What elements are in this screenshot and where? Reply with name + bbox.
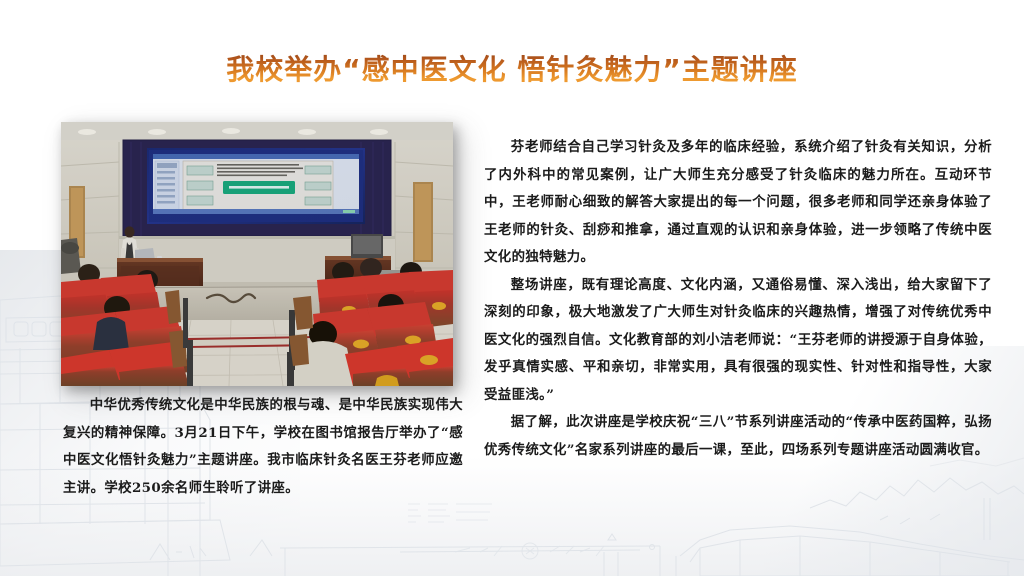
right-paragraph-3: 据了解，此次讲座是学校庆祝“三八”节系列讲座活动的“传承中医药国粹，弘扬优秀传统… — [484, 409, 992, 464]
title-block: 我校举办“感中医文化 悟针灸魅力”主题讲座 — [0, 50, 1024, 90]
right-paragraph-1: 芬老师结合自己学习针灸及多年的临床经验，系统介绍了针灸有关知识，分析了内外科中的… — [484, 134, 992, 272]
page-title: 我校举办“感中医文化 悟针灸魅力”主题讲座 — [226, 50, 798, 90]
right-paragraph-2: 整场讲座，既有理论高度、文化内涵，又通俗易懂、深入浅出，给大家留下了深刻的印象，… — [484, 272, 992, 410]
left-column-text: 中华优秀传统文化是中华民族的根与魂、是中华民族实现伟大复兴的精神保障。3月21日… — [63, 392, 463, 502]
left-paragraph-1: 中华优秀传统文化是中华民族的根与魂、是中华民族实现伟大复兴的精神保障。3月21日… — [63, 392, 463, 502]
right-column-text: 芬老师结合自己学习针灸及多年的临床经验，系统介绍了针灸有关知识，分析了内外科中的… — [484, 134, 992, 464]
slide-root: 我校举办“感中医文化 悟针灸魅力”主题讲座 — [0, 0, 1024, 576]
lecture-photo — [61, 122, 453, 386]
